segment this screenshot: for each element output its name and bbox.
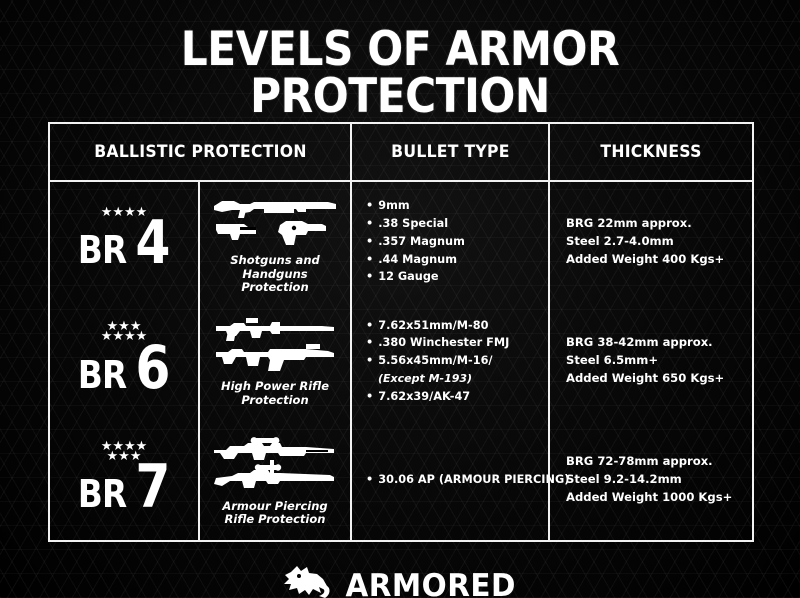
table-row: ★★★★ ★★★ BR 7 [50,421,350,540]
assault-rifle-m16-ak47-icon [210,314,340,376]
weapon-caption-br4: Shotguns and Handguns Protection [204,254,346,295]
header-label-bullet: BULLET TYPE [391,142,510,162]
thickness-line: BRG 22mm approx. [566,215,744,233]
thickness-line: Added Weight 400 Kgs+ [566,251,744,269]
bullet-item: 7.62x39/AK-47 [366,388,542,406]
header-cell-thickness: THICKNESS [550,124,752,180]
sniper-rifle-scoped-icon [210,434,340,496]
thickness-line: Steel 6.5mm+ [566,352,744,370]
infographic-root: LEVELS OF ARMOR PROTECTION BALLISTIC PRO… [0,0,800,598]
bullet-item: 9mm [366,197,542,215]
level-prefix: BR [78,228,126,272]
header-label-thickness: THICKNESS [600,142,701,162]
level-prefix: BR [78,472,126,516]
caption-line-2: Protection [204,281,346,295]
level-badge-br4: ★★★★ BR 4 [50,207,198,276]
table-row: ★★★ ★★★★ BR 6 [50,301,350,420]
level-label-br6: BR 6 [74,343,174,397]
caption-line-1: Shotguns and Handguns [204,254,346,281]
bullet-item: .38 Special [366,215,542,233]
table-header-row: BALLISTIC PROTECTION BULLET TYPE THICKNE… [50,124,752,182]
thickness-group-br6: BRG 38-42mm approx. Steel 6.5mm+ Added W… [550,301,752,420]
bullet-list-br6: 7.62x51mm/M-80 .380 Winchester FMJ 5.56x… [352,301,548,420]
page-title-text: LEVELS OF ARMOR PROTECTION [40,26,760,120]
column-thickness: BRG 22mm approx. Steel 2.7-4.0mm Added W… [550,182,752,540]
weapon-illustration-br6: High Power Rifle Protection [198,301,350,420]
bullet-item: 30.06 AP (ARMOUR PIERCING) [366,471,542,489]
header-cell-ballistic: BALLISTIC PROTECTION [50,124,350,180]
header-cell-bullet: BULLET TYPE [350,124,550,180]
bullet-list-br7: 30.06 AP (ARMOUR PIERCING) [352,421,548,540]
header-label-ballistic: BALLISTIC PROTECTION [94,142,306,162]
weapon-illustration-br4: Shotguns and Handguns Protection [198,182,350,301]
caption-line-1: High Power Rifle [221,380,329,394]
bullet-item: .357 Magnum [366,233,542,251]
bullet-item-note: (Except M-193) [366,370,542,387]
level-label-br4: BR 4 [74,218,174,272]
bullet-list-br4: 9mm .38 Special .357 Magnum .44 Magnum 1… [352,182,548,301]
weapon-caption-br6: High Power Rifle Protection [221,380,329,407]
table-body: ★★★★ BR 4 [50,182,752,540]
weapon-caption-br7: Armour Piercing Rifle Protection [222,500,327,527]
column-bullet-type: 9mm .38 Special .357 Magnum .44 Magnum 1… [350,182,550,540]
column-ballistic-protection: ★★★★ BR 4 [50,182,350,540]
panther-logo-icon [279,562,335,598]
level-badge-br6: ★★★ ★★★★ BR 6 [50,321,198,400]
caption-line-1: Armour Piercing [222,500,327,514]
brand-name: ARMORED [346,571,516,598]
caption-line-2: Rifle Protection [222,513,327,527]
level-number: 7 [136,462,171,513]
level-prefix: BR [78,353,126,397]
bullet-item: .44 Magnum [366,251,542,269]
level-label-br7: BR 7 [74,462,174,516]
thickness-line: Added Weight 1000 Kgs+ [566,489,744,507]
page-title: LEVELS OF ARMOR PROTECTION [0,26,800,120]
level-number: 4 [136,218,171,269]
thickness-line: BRG 38-42mm approx. [566,334,744,352]
thickness-line: Steel 2.7-4.0mm [566,233,744,251]
bullet-item: 7.62x51mm/M-80 [366,317,542,335]
level-badge-br7: ★★★★ ★★★ BR 7 [50,441,198,520]
thickness-group-br7: BRG 72-78mm approx. Steel 9.2-14.2mm Add… [550,421,752,540]
table-row: ★★★★ BR 4 [50,182,350,301]
bullet-item: .380 Winchester FMJ [366,334,542,352]
thickness-line: Added Weight 650 Kgs+ [566,370,744,388]
weapon-illustration-br7: Armour Piercing Rifle Protection [198,421,350,540]
caption-line-2: Protection [221,394,329,408]
thickness-line: Steel 9.2-14.2mm [566,471,744,489]
shotgun-pistol-revolver-icon [210,188,340,250]
bullet-item: 5.56x45mm/M-16/ [366,352,542,370]
protection-table: BALLISTIC PROTECTION BULLET TYPE THICKNE… [48,122,754,542]
bullet-item: 12 Gauge [366,268,542,286]
footer-brand: ARMORED [0,562,800,598]
thickness-group-br4: BRG 22mm approx. Steel 2.7-4.0mm Added W… [550,182,752,301]
level-number: 6 [136,343,171,394]
thickness-line: BRG 72-78mm approx. [566,453,744,471]
